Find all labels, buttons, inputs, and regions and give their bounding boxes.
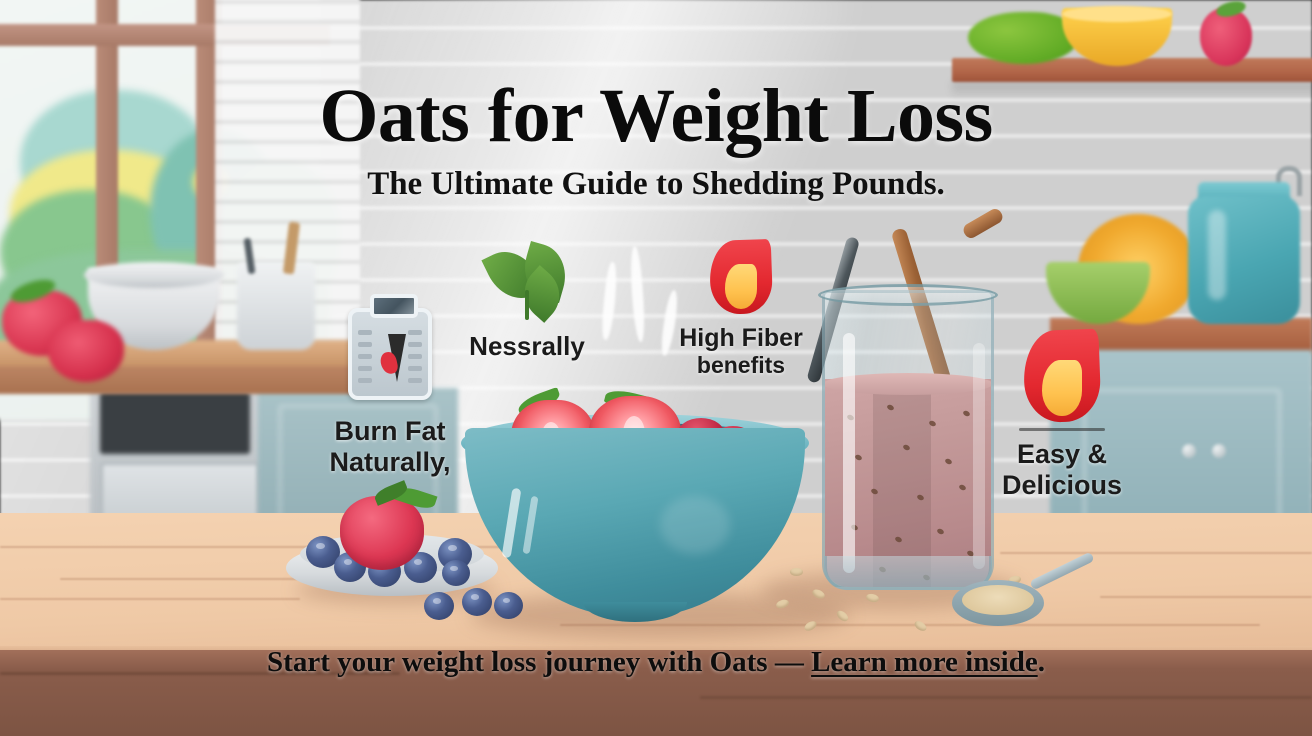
cta-prefix: Start your weight loss journey with Oats… — [267, 646, 811, 678]
cta-suffix: . — [1038, 646, 1045, 678]
scale-tick — [358, 378, 372, 383]
feature-divider — [1019, 428, 1105, 431]
page-title: Oats for Weight Loss — [0, 78, 1312, 154]
wood-grain — [0, 598, 300, 600]
scale-tick — [358, 354, 372, 359]
glass-rim — [818, 284, 998, 306]
feature-label-line1: Easy & — [968, 439, 1156, 470]
bowl-foot — [583, 602, 687, 622]
white-mixing-bowl-rim — [84, 262, 224, 288]
hero-oatmeal-bowl — [455, 392, 815, 624]
teal-jar — [1188, 196, 1300, 324]
title-block: Oats for Weight Loss The Ultimate Guide … — [0, 78, 1312, 202]
page-subtitle: The Ultimate Guide to Shedding Pounds. — [0, 166, 1312, 202]
flame-icon — [710, 240, 772, 314]
flame-inner-shape — [1042, 360, 1082, 415]
counter-strawberry-2 — [48, 320, 124, 382]
flame-icon — [1024, 330, 1100, 422]
jar-highlight — [1208, 210, 1226, 300]
scale-tick — [408, 354, 422, 359]
feature-high-fiber: High Fiber benefits — [646, 240, 836, 378]
cabinet-knob-right[interactable] — [1212, 444, 1226, 458]
leaf-icon — [479, 244, 575, 320]
edge-grain — [700, 696, 1312, 699]
cabinet-knob-left[interactable] — [1182, 444, 1196, 458]
loose-blueberry — [424, 592, 454, 620]
feature-label-line2: benefits — [646, 352, 836, 378]
feature-nessrally: Nessrally — [432, 244, 622, 361]
scale-tick — [408, 378, 422, 383]
bowl-soft-highlight — [660, 496, 730, 554]
scale-tick — [408, 330, 422, 335]
glass-highlight — [843, 333, 855, 573]
spoon-oats — [962, 585, 1034, 615]
poster-canvas: Oats for Weight Loss The Ultimate Guide … — [0, 0, 1312, 736]
scale-tick — [408, 342, 422, 347]
loose-oat-flake — [790, 568, 803, 576]
feature-label-line2: Naturally, — [302, 447, 478, 478]
cta-link[interactable]: Learn more inside — [811, 646, 1038, 678]
feature-label-line1: Nessrally — [432, 332, 622, 361]
scale-tick — [358, 366, 372, 371]
feature-label-line1: High Fiber — [646, 324, 836, 352]
leaf-stem — [525, 290, 529, 320]
flame-inner-shape — [725, 264, 757, 308]
feature-label-line2: Delicious — [968, 470, 1156, 501]
scale-tick — [358, 330, 372, 335]
appliance-display-panel — [100, 392, 250, 454]
feature-easy-delicious: Easy & Delicious — [968, 330, 1156, 500]
yellow-bowl-rim — [1062, 6, 1172, 22]
wood-grain — [1100, 596, 1312, 598]
wood-grain — [1000, 552, 1312, 554]
scale-tick — [408, 366, 422, 371]
plate-strawberry — [340, 496, 424, 570]
cta-caption: Start your weight loss journey with Oats… — [0, 646, 1312, 679]
scale-icon — [348, 308, 432, 400]
feature-label-line1: Burn Fat — [302, 416, 478, 447]
scale-display-icon — [370, 294, 418, 318]
scale-tick — [358, 342, 372, 347]
